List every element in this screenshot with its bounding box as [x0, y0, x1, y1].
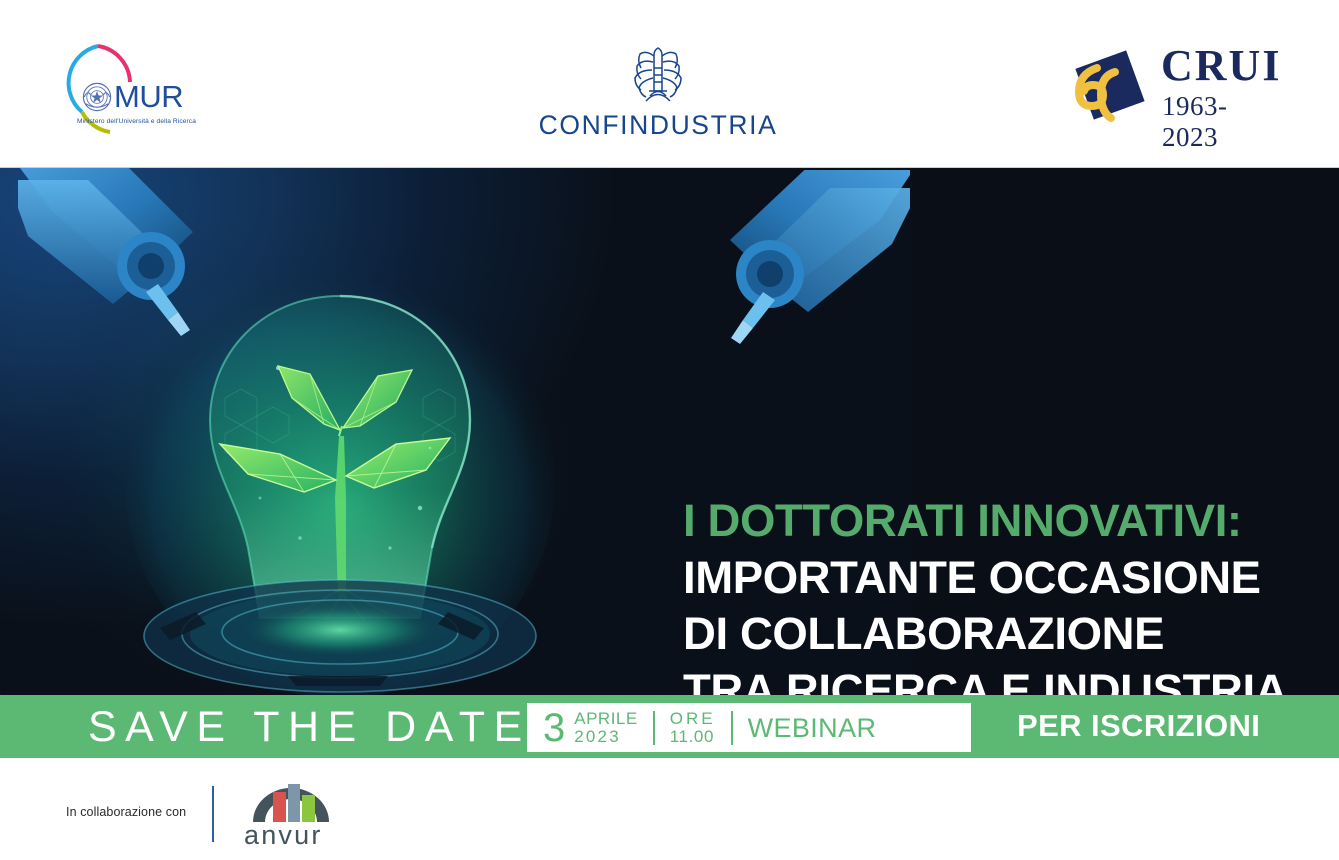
confindustria-wordmark: CONFINDUSTRIA — [533, 110, 783, 141]
event-month-year: APRILE 2023 — [574, 710, 637, 746]
confindustria-logo: CONFINDUSTRIA — [533, 44, 783, 144]
event-details-box: 3 APRILE 2023 ORE 11.00 WEBINAR — [527, 703, 971, 752]
hologram-illustration-icon — [120, 248, 560, 695]
title-line-3: DI COLLABORAZIONE — [683, 611, 1303, 657]
footer-divider — [212, 786, 214, 842]
anvur-wordmark: anvur — [244, 820, 323, 850]
event-month: APRILE — [574, 710, 637, 728]
crui-60-anniversary-icon — [1063, 44, 1149, 130]
event-year: 2023 — [574, 728, 637, 746]
anvur-logo: anvur — [243, 780, 339, 852]
lightbulb-plant-hologram — [120, 248, 560, 695]
mur-subtitle: Ministero dell'Università e della Ricerc… — [77, 118, 196, 125]
save-the-date-label: SAVE THE DATE — [88, 704, 531, 750]
mur-wordmark: MUR — [114, 80, 183, 114]
event-title: I DOTTORATI INNOVATIVI: IMPORTANTE OCCAS… — [683, 498, 1303, 695]
time-label: ORE — [670, 710, 716, 728]
title-line-1: I DOTTORATI INNOVATIVI: — [683, 498, 1303, 544]
divider-2 — [731, 711, 733, 745]
event-time: ORE 11.00 — [670, 710, 716, 746]
crui-logo: CRUI 1963-2023 — [1063, 40, 1283, 140]
mur-logo: MUR Ministero dell'Università e della Ri… — [58, 34, 188, 139]
save-the-date-bar: SAVE THE DATE 3 APRILE 2023 ORE 11.00 WE… — [0, 695, 1339, 758]
confindustria-eagle-icon — [619, 44, 697, 106]
time-value: 11.00 — [670, 728, 716, 746]
hero-section: I DOTTORATI INNOVATIVI: IMPORTANTE OCCAS… — [0, 168, 1339, 695]
crui-wordmark: CRUI — [1161, 44, 1281, 88]
crui-years: 1963-2023 — [1162, 91, 1283, 153]
footer-partners: In collaborazione con anvur CINECA on — [0, 758, 1339, 860]
event-day: 3 — [543, 708, 565, 748]
collaboration-label: In collaborazione con — [66, 805, 186, 819]
partner-logo-bar: MUR Ministero dell'Università e della Ri… — [0, 0, 1339, 168]
event-format: WEBINAR — [748, 714, 877, 742]
anvur-books-icon — [243, 780, 339, 824]
title-line-2: IMPORTANTE OCCASIONE — [683, 555, 1303, 601]
italian-republic-emblem-icon — [80, 80, 114, 114]
event-poster: MUR Ministero dell'Università e della Ri… — [0, 0, 1339, 860]
divider-1 — [653, 711, 655, 745]
registrations-label[interactable]: PER ISCRIZIONI — [1017, 706, 1260, 746]
title-line-4: TRA RICERCA E INDUSTRIA — [683, 668, 1303, 696]
